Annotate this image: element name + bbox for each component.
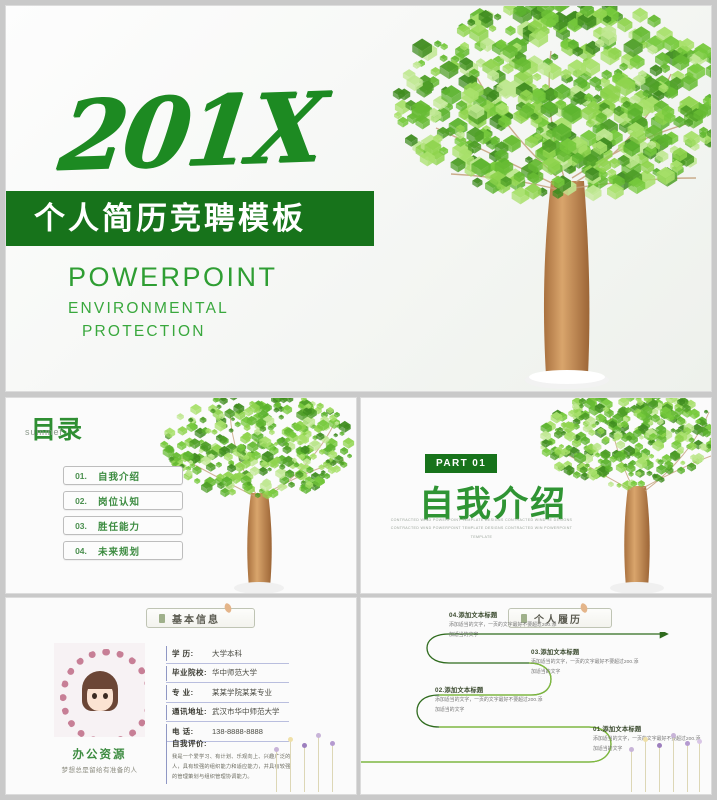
timeline-item-title: 04.添加文本标题 bbox=[449, 610, 561, 619]
info-value: 某某学院某某专业 bbox=[212, 687, 272, 698]
info-value: 138-8888-8888 bbox=[212, 727, 263, 736]
part-english-caption: CONTRACTED WIND POWERPOINT TEMPLATE DESI… bbox=[389, 516, 574, 541]
toc-heading: 目录 summer bbox=[31, 410, 83, 446]
bookmark-icon bbox=[159, 614, 165, 623]
info-value: 华中师范大学 bbox=[212, 667, 257, 678]
timeline-item-02: 02.添加文本标题 添加适当的文字，一页的文字最好不要超过200.添加适当的文字 bbox=[435, 685, 547, 716]
subtitle-protection: PROTECTION bbox=[68, 320, 278, 343]
info-row: 通讯地址: 武汉市华中师范大学 bbox=[166, 703, 289, 723]
info-row: 毕业院校: 华中师范大学 bbox=[166, 664, 289, 684]
timeline-item-title: 03.添加文本标题 bbox=[531, 647, 643, 656]
toc-item-label: 未来规划 bbox=[98, 544, 140, 558]
avatar-tagline: 梦想总是留给有准备的人 bbox=[34, 764, 165, 774]
toc-item-4[interactable]: 04. 未来规划 bbox=[63, 541, 183, 560]
toc-list: 01. 自我介绍 02. 岗位认知 03. 胜任能力 04. 未来规划 bbox=[63, 466, 183, 566]
info-key: 学 历: bbox=[166, 648, 212, 659]
avatar bbox=[54, 643, 145, 737]
slide-personal-resume[interactable]: 个人履历 04.添加文本标题 添加适当的文字，一页的文字最好不要超过200.添加… bbox=[361, 598, 711, 794]
timeline-item-title: 02.添加文本标题 bbox=[435, 685, 547, 694]
avatar-eye-right bbox=[103, 693, 108, 699]
toc-heading-en: summer bbox=[25, 427, 64, 437]
toc-item-label: 胜任能力 bbox=[98, 519, 140, 533]
toc-item-label: 岗位认知 bbox=[98, 494, 140, 508]
part-badge: PART 01 bbox=[425, 454, 497, 473]
toc-item-1[interactable]: 01. 自我介绍 bbox=[63, 466, 183, 485]
avatar-eye-left bbox=[92, 693, 97, 699]
info-key: 电 话: bbox=[166, 726, 212, 737]
title-band: 个人简历竞聘模板 bbox=[6, 191, 374, 246]
info-key: 通讯地址: bbox=[166, 706, 212, 717]
info-row: 专 业: 某某学院某某专业 bbox=[166, 683, 289, 703]
subtitle-environmental: ENVIRONMENTAL bbox=[68, 297, 278, 320]
info-value: 大学本科 bbox=[212, 648, 242, 659]
flower-decoration bbox=[266, 730, 352, 792]
info-key: 专 业: bbox=[166, 687, 212, 698]
timeline-item-04: 04.添加文本标题 添加适当的文字，一页的文字最好不要超过200.添加适当的文字 bbox=[449, 610, 561, 641]
toc-item-3[interactable]: 03. 胜任能力 bbox=[63, 516, 183, 535]
title-subtitles: POWERPOINT ENVIRONMENTAL PROTECTION bbox=[68, 261, 278, 343]
info-key: 毕业院校: bbox=[166, 667, 212, 678]
info-value: 武汉市华中师范大学 bbox=[212, 706, 280, 717]
toc-item-2[interactable]: 02. 岗位认知 bbox=[63, 491, 183, 510]
title-band-text: 个人简历竞聘模板 bbox=[6, 191, 374, 246]
info-field-list: 学 历: 大学本科 毕业院校: 华中师范大学 专 业: 某某学院某某专业 通讯地… bbox=[166, 644, 289, 742]
subtitle-powerpoint: POWERPOINT bbox=[68, 261, 278, 295]
title-year: 201X bbox=[54, 80, 326, 185]
slide-section-divider[interactable]: PART 01 自我介绍 CONTRACTED WIND POWERPOINT … bbox=[361, 398, 711, 593]
toc-item-number: 04. bbox=[64, 546, 98, 556]
slide-thumbnail-deck: 201X 个人简历竞聘模板 POWERPOINT ENVIRONMENTAL P… bbox=[0, 0, 717, 800]
avatar-bangs bbox=[85, 678, 115, 689]
avatar-name: 办公资源 bbox=[54, 746, 145, 762]
avatar-face bbox=[82, 671, 118, 715]
toc-item-number: 03. bbox=[64, 521, 98, 531]
timeline-item-03: 03.添加文本标题 添加适当的文字，一页的文字最好不要超过200.添加适当的文字 bbox=[531, 647, 643, 678]
toc-item-label: 自我介绍 bbox=[98, 469, 140, 483]
slide-basic-info[interactable]: 基本信息 办公资源 梦想总是留给有准备的人 学 历: 大学本科 毕业院校: 华中… bbox=[6, 598, 356, 794]
toc-item-number: 01. bbox=[64, 471, 98, 481]
section-header-title: 基本信息 bbox=[172, 611, 220, 626]
section-header-basic-info: 基本信息 bbox=[146, 608, 255, 628]
timeline-item-desc: 添加适当的文字，一页的文字最好不要超过200.添加适当的文字 bbox=[531, 658, 643, 678]
flower-decoration bbox=[621, 730, 707, 792]
info-row: 学 历: 大学本科 bbox=[166, 644, 289, 664]
timeline-item-desc: 添加适当的文字，一页的文字最好不要超过200.添加适当的文字 bbox=[435, 696, 547, 716]
timeline-item-desc: 添加适当的文字，一页的文字最好不要超过200.添加适当的文字 bbox=[449, 621, 561, 641]
toc-item-number: 02. bbox=[64, 496, 98, 506]
slide-table-of-contents[interactable]: 目录 summer 01. 自我介绍 02. 岗位认知 03. 胜任能力 04.… bbox=[6, 398, 356, 593]
slide-title[interactable]: 201X 个人简历竞聘模板 POWERPOINT ENVIRONMENTAL P… bbox=[6, 6, 711, 391]
